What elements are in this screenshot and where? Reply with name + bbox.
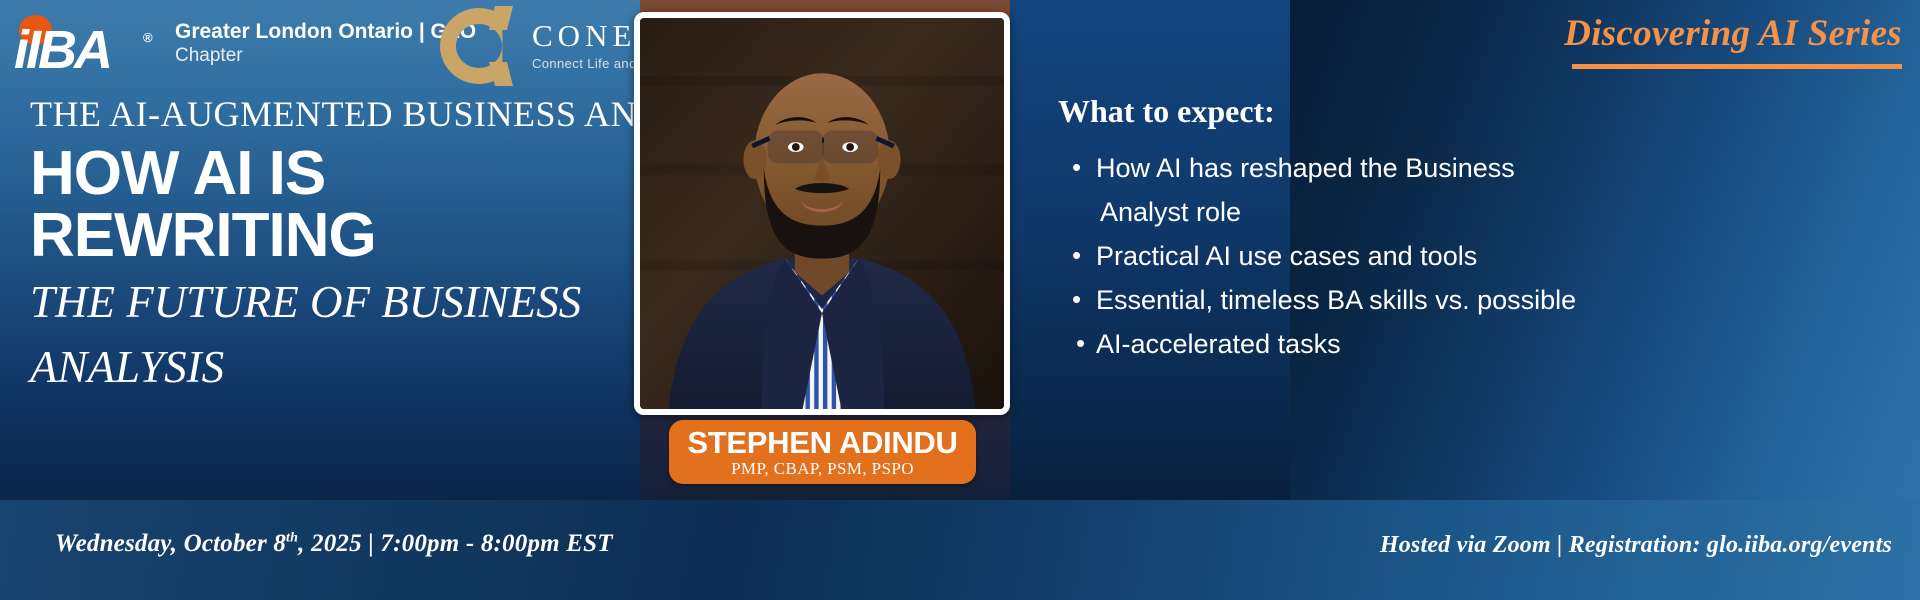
- iiba-wordmark-graphic: iIBA ®: [14, 14, 162, 76]
- headline-primary-line1: HOW AI IS: [30, 146, 650, 202]
- iiba-chapter-label: Chapter: [175, 44, 476, 68]
- headline-subtitle-line2: ANALYSIS: [30, 341, 650, 394]
- registration-info[interactable]: Hosted via Zoom | Registration: glo.iiba…: [1380, 532, 1892, 559]
- list-item: How AI has reshaped the Business: [1058, 146, 1618, 190]
- event-promo-banner: iIBA ® Greater London Ontario | GLO Chap…: [0, 0, 1920, 600]
- headline-primary-line2: REWRITING: [30, 208, 650, 264]
- headline-subtitle-line1: THE FUTURE OF BUSINESS: [30, 276, 650, 329]
- event-date-rest: , 2025 | 7:00pm - 8:00pm EST: [298, 530, 613, 557]
- speaker-name: STEPHEN ADINDU: [669, 426, 976, 459]
- registered-trademark-icon: ®: [143, 30, 153, 45]
- iiba-wordmark-text: iIBA: [14, 24, 110, 76]
- conestoga-c-mark-icon: [440, 8, 518, 84]
- what-to-expect-title: What to expect:: [1058, 90, 1618, 132]
- speaker-credentials: PMP, CBAP, PSM, PSPO: [669, 459, 976, 479]
- series-underline-rule: [1572, 64, 1902, 69]
- what-to-expect-block: What to expect: How AI has reshaped the …: [1058, 90, 1618, 366]
- iiba-logo: iIBA ® Greater London Ontario | GLO Chap…: [14, 14, 476, 76]
- speaker-photo: [634, 12, 1010, 415]
- headline-eyebrow: THE AI-AUGMENTED BUSINESS ANALYST:: [30, 88, 650, 140]
- series-title: Discovering AI Series: [1564, 12, 1902, 56]
- iiba-chapter-block: Greater London Ontario | GLO Chapter: [175, 19, 476, 71]
- list-item: Essential, timeless BA skills vs. possib…: [1058, 278, 1618, 322]
- list-item: Analyst role: [1058, 190, 1618, 234]
- event-date-main: Wednesday, October 8: [55, 530, 286, 557]
- iiba-chapter-name: Greater London Ontario | GLO: [175, 19, 476, 44]
- speaker-portrait-illustration: [640, 18, 1004, 409]
- list-item: Practical AI use cases and tools: [1058, 234, 1618, 278]
- series-header: Discovering AI Series: [1564, 12, 1902, 69]
- event-date-ordinal: th: [286, 531, 298, 546]
- event-datetime: Wednesday, October 8th, 2025 | 7:00pm - …: [55, 530, 675, 558]
- list-item: AI-accelerated tasks: [1058, 322, 1618, 366]
- conestoga-c-serif-icon: [489, 62, 513, 86]
- speaker-nameplate: STEPHEN ADINDU PMP, CBAP, PSM, PSPO: [669, 420, 976, 484]
- headline-block: THE AI-AUGMENTED BUSINESS ANALYST: HOW A…: [30, 88, 650, 394]
- what-to-expect-list: How AI has reshaped the Business Analyst…: [1058, 146, 1618, 366]
